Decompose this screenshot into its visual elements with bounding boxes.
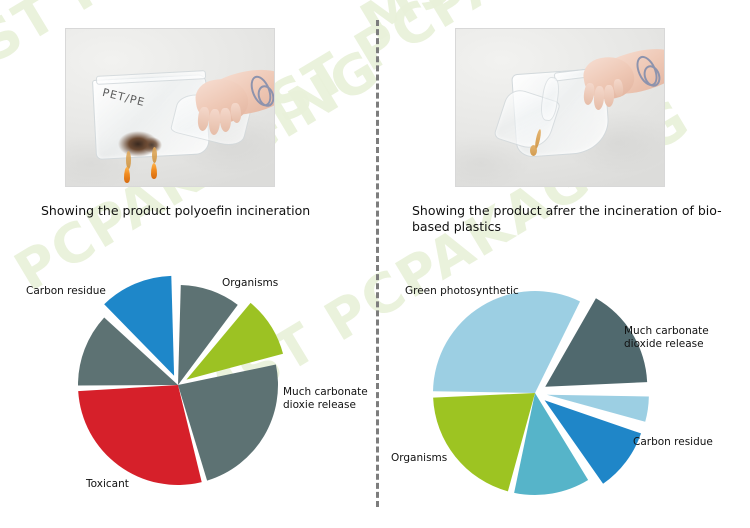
pie-label-organisms-left: Organisms xyxy=(222,277,278,290)
pie-chart-left: Carbon residue Organisms Much carbonate … xyxy=(0,258,375,523)
flame-icon xyxy=(124,167,130,183)
photo-polyolefin-incineration: PET/PE xyxy=(65,28,275,187)
flame-icon xyxy=(151,163,157,179)
pie-label-toxicant-left: Toxicant xyxy=(86,478,129,491)
pie-label-organisms-right: Organisms xyxy=(391,452,447,465)
caption-left: Showing the product polyoefin incinerati… xyxy=(41,203,361,219)
pie-label-carbon-residue-right: Carbon residue xyxy=(633,436,713,449)
caption-right: Showing the product afrer the incinerati… xyxy=(412,203,730,235)
pie-label-much-carbonate-right: Much carbonate dioxide release xyxy=(624,325,709,351)
pie-label-green-photosynthetic-right: Green photosynthetic xyxy=(405,285,519,298)
molten-residue xyxy=(530,145,537,156)
pie-label-carbon-residue-left: Carbon residue xyxy=(26,285,106,298)
finger xyxy=(220,108,231,132)
pie-label-much-carbonate-left: Much carbonate dioxie release xyxy=(283,386,368,412)
photo-biobased-after-incineration xyxy=(455,28,665,187)
molten-drip xyxy=(152,147,157,163)
screenshot-stage: MST PCPAKAGING MST PCPAKAGING MST PCPAKA… xyxy=(0,0,750,528)
finger xyxy=(604,85,614,107)
pie-chart-right: Green photosynthetic Much carbonate diox… xyxy=(375,258,750,523)
